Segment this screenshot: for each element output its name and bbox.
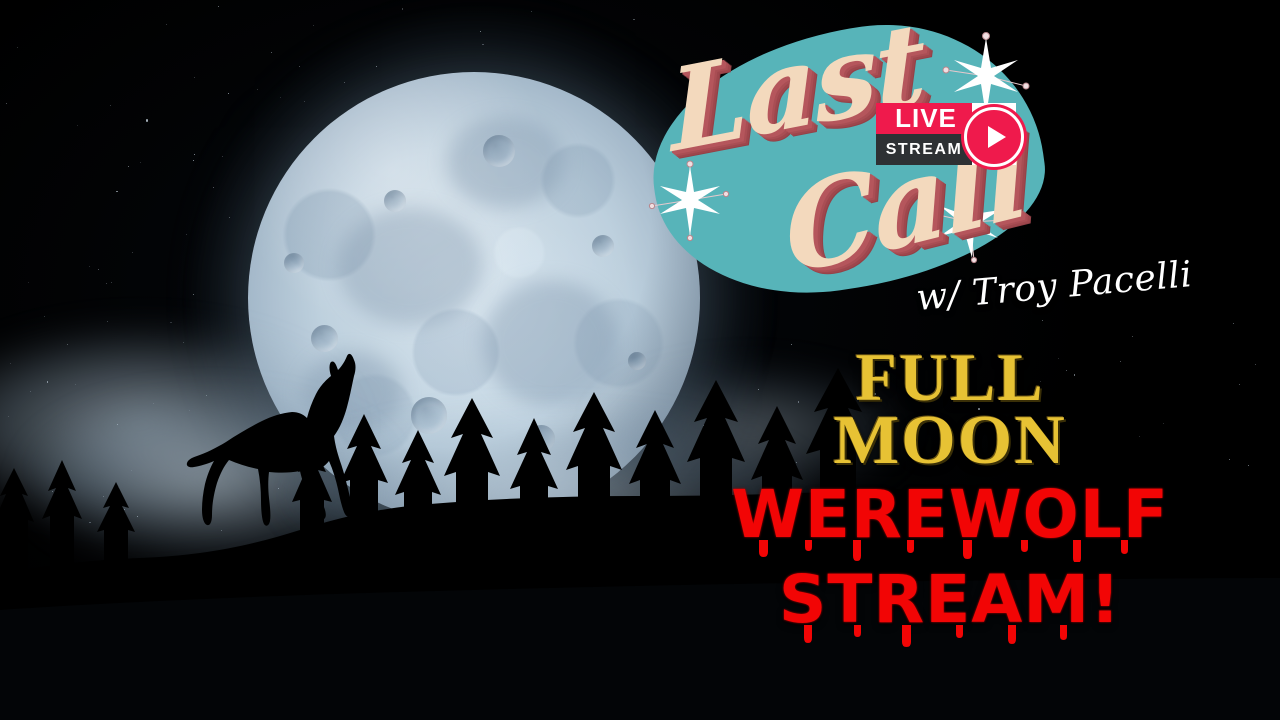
title-line-full: FULL	[700, 348, 1200, 408]
play-button-icon[interactable]	[964, 107, 1024, 167]
star	[531, 11, 532, 12]
star	[140, 162, 141, 163]
star	[271, 52, 272, 53]
star	[6, 103, 7, 104]
star	[128, 166, 129, 167]
star	[1132, 336, 1133, 337]
star	[44, 316, 45, 317]
star	[111, 282, 112, 283]
star	[28, 282, 29, 283]
star	[194, 154, 195, 155]
star	[193, 160, 194, 161]
star	[106, 283, 107, 284]
star	[633, 19, 635, 21]
star	[228, 93, 229, 94]
star	[116, 191, 118, 193]
live-stream-badge[interactable]: LIVE STREAM	[876, 103, 1016, 165]
star	[17, 47, 18, 48]
star	[107, 321, 108, 322]
title-line-werewolf: WEREWOLF	[700, 485, 1200, 546]
star	[166, 24, 167, 25]
star	[194, 77, 195, 78]
last-call-logo: Last Call LIVE STREAM w/ Troy Pacelli	[640, 8, 1060, 318]
star	[299, 66, 300, 67]
stream-label: STREAM	[876, 134, 972, 165]
star	[98, 269, 99, 270]
badge-play-column	[972, 103, 1016, 165]
badge-text-column: LIVE STREAM	[876, 103, 972, 165]
title-line-stream: STREAM!	[700, 570, 1200, 631]
episode-title-block: FULL MOON WEREWOLF STREAM!	[700, 348, 1200, 647]
title-line-moon: MOON	[700, 410, 1200, 472]
star	[186, 234, 187, 235]
star	[402, 8, 404, 10]
stream-thumbnail-canvas: Last Call LIVE STREAM w/ Troy Pacelli FU…	[0, 0, 1280, 720]
star	[218, 6, 219, 7]
star	[146, 119, 148, 121]
star	[1042, 320, 1043, 321]
star	[132, 252, 133, 253]
live-label: LIVE	[876, 103, 972, 134]
star	[77, 125, 78, 126]
star	[1233, 323, 1234, 324]
star	[170, 322, 172, 324]
star	[313, 25, 314, 26]
play-triangle-icon	[988, 126, 1006, 148]
star	[89, 266, 90, 267]
star	[110, 105, 111, 106]
star	[222, 156, 223, 157]
